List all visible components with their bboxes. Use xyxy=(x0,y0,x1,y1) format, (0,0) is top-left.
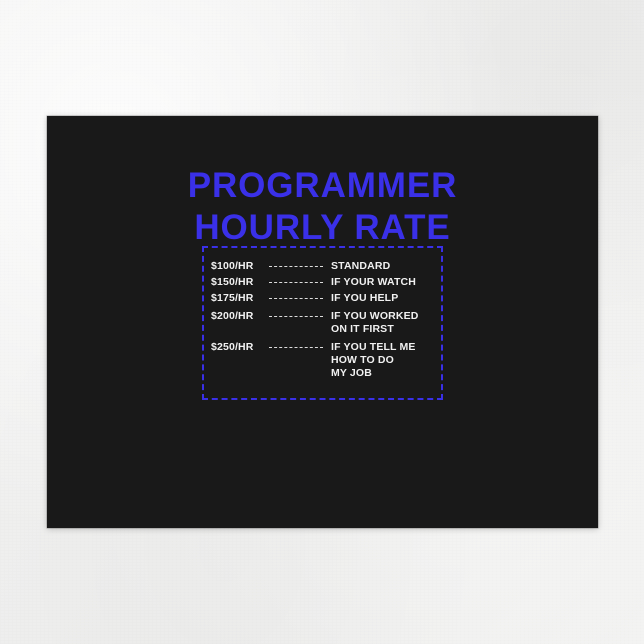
rate-table-box: $100/HRSTANDARD$150/HRIF YOUR WATCH$175/… xyxy=(202,246,443,400)
rate-row: $200/HRIF YOU WORKEDON IT FIRST xyxy=(211,310,439,336)
rate-description-line: ON IT FIRST xyxy=(331,323,439,336)
title-line-1: PROGRAMMER xyxy=(47,168,598,203)
rate-description-line: MY JOB xyxy=(331,367,439,380)
rate-separator-dashes xyxy=(267,260,331,273)
rate-description-line: IF YOU TELL ME xyxy=(331,341,439,354)
postcard-card: PROGRAMMER HOURLY RATE $100/HRSTANDARD$1… xyxy=(47,116,598,528)
rate-description-line: IF YOU WORKED xyxy=(331,310,439,323)
rate-description: IF YOU TELL MEHOW TO DOMY JOB xyxy=(331,341,439,380)
rate-separator-dashes xyxy=(267,310,331,323)
rate-description: IF YOU HELP xyxy=(331,292,439,305)
rate-description-line: IF YOU HELP xyxy=(331,292,439,305)
rate-separator-dashes xyxy=(267,292,331,305)
rate-description: STANDARD xyxy=(331,260,439,273)
page-title: PROGRAMMER HOURLY RATE xyxy=(47,168,598,245)
rate-separator-dashes xyxy=(267,276,331,289)
rate-description-line: HOW TO DO xyxy=(331,354,439,367)
rate-row: $250/HRIF YOU TELL MEHOW TO DOMY JOB xyxy=(211,341,439,380)
rate-price: $175/HR xyxy=(211,292,267,305)
rate-row: $150/HRIF YOUR WATCH xyxy=(211,276,439,289)
rate-price: $150/HR xyxy=(211,276,267,289)
rate-row: $175/HRIF YOU HELP xyxy=(211,292,439,305)
rate-row: $100/HRSTANDARD xyxy=(211,260,439,273)
rate-description-line: STANDARD xyxy=(331,260,439,273)
rate-separator-dashes xyxy=(267,341,331,354)
rate-price: $250/HR xyxy=(211,341,267,354)
postcard-canvas: PROGRAMMER HOURLY RATE $100/HRSTANDARD$1… xyxy=(0,0,644,644)
rate-price: $200/HR xyxy=(211,310,267,323)
rate-description: IF YOU WORKEDON IT FIRST xyxy=(331,310,439,336)
rate-price: $100/HR xyxy=(211,260,267,273)
rate-description: IF YOUR WATCH xyxy=(331,276,439,289)
title-line-2: HOURLY RATE xyxy=(47,210,598,245)
rate-table-rows: $100/HRSTANDARD$150/HRIF YOUR WATCH$175/… xyxy=(211,260,439,383)
rate-description-line: IF YOUR WATCH xyxy=(331,276,439,289)
